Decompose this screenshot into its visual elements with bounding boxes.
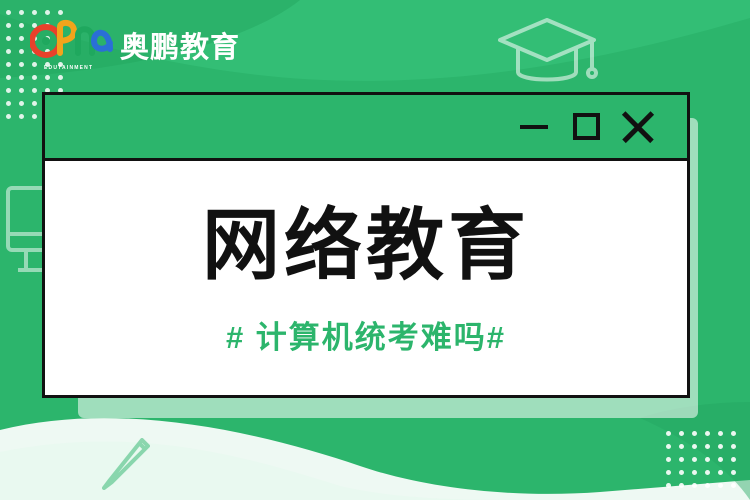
open-logo-mark: EDUTAINMENT [30,19,114,71]
minimize-icon [520,125,548,129]
window-body: 网络教育 # 计算机统考难吗# [45,161,687,395]
close-icon [621,110,655,144]
window-frame: 网络教育 # 计算机统考难吗# [42,92,690,398]
subtitle-hashtag: # 计算机统考难吗# [226,312,506,357]
dot-grid-bottom-right [666,431,736,488]
brand-logo-subtext: EDUTAINMENT [44,65,93,71]
brand-logo-text: 奥鹏教育 [120,24,240,66]
minimize-button[interactable] [511,104,557,150]
window-titlebar [45,95,687,161]
maximize-icon [573,113,600,140]
graduation-cap-icon [492,10,602,102]
poster-canvas: EDUTAINMENT 奥鹏教育 网络教育 # 计算机统考难吗# [0,0,750,500]
close-button[interactable] [615,104,661,150]
brand-logo: EDUTAINMENT 奥鹏教育 [30,18,240,72]
headline-title: 网络教育 [202,206,530,284]
maximize-button[interactable] [563,104,609,150]
pencil-icon [96,432,158,494]
